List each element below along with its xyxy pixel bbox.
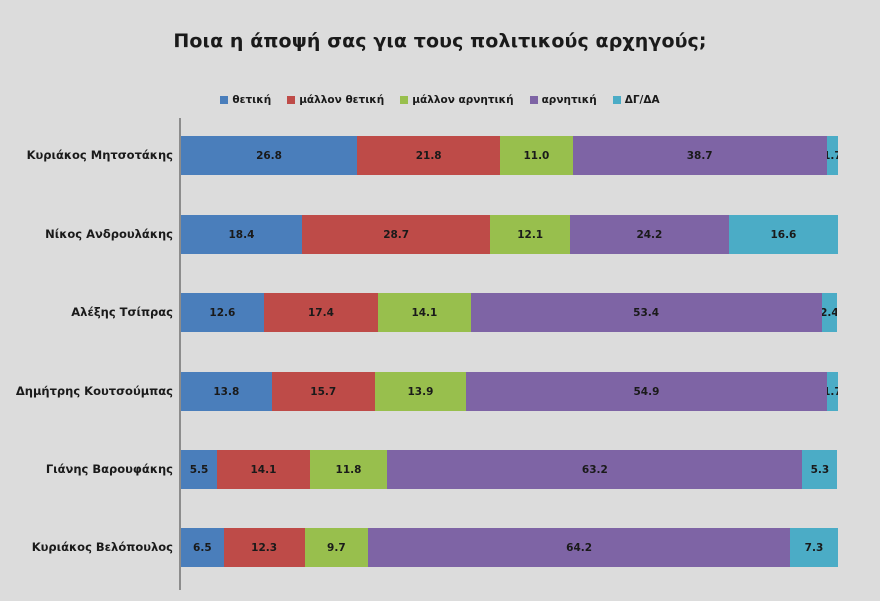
- bar-segment[interactable]: 12.3: [224, 528, 305, 567]
- bar-segment-value: 17.4: [308, 307, 334, 319]
- bar-segment-value: 13.8: [213, 386, 239, 398]
- bar-segment[interactable]: 16.6: [729, 215, 838, 254]
- bar-segment[interactable]: 24.2: [570, 215, 729, 254]
- chart-category-row: Κυριάκος Βελόπουλος6.512.39.764.27.3: [0, 528, 880, 567]
- category-label: Κυριάκος Βελόπουλος: [32, 528, 173, 567]
- chart-category-row: Νίκος Ανδρουλάκης18.428.712.124.216.6: [0, 215, 880, 254]
- bar-segment[interactable]: 1.7: [827, 136, 838, 175]
- chart-category-row: Αλέξης Τσίπρας12.617.414.153.42.4: [0, 293, 880, 332]
- bar-segment[interactable]: 15.7: [272, 372, 375, 411]
- category-label: Νίκος Ανδρουλάκης: [45, 215, 173, 254]
- bar-segment-value: 5.5: [190, 464, 209, 476]
- chart-title: Ποια η άποψή σας για τους πολιτικούς αρχ…: [0, 30, 880, 52]
- bar-segment-value: 13.9: [407, 386, 433, 398]
- bar-segment-value: 15.7: [310, 386, 336, 398]
- bar-segment-value: 9.7: [327, 542, 346, 554]
- chart-legend: θετικήμάλλον θετικήμάλλον αρνητικήαρνητι…: [0, 94, 880, 106]
- category-label: Κυριάκος Μητσοτάκης: [27, 136, 173, 175]
- bar-segment-value: 11.8: [336, 464, 362, 476]
- bar-segment-value: 14.1: [250, 464, 276, 476]
- plot-area: Κυριάκος Μητσοτάκης26.821.811.038.71.7Νί…: [0, 118, 880, 596]
- bar-segment[interactable]: 63.2: [387, 450, 802, 489]
- bar-segment[interactable]: 6.5: [181, 528, 224, 567]
- bar-segment-value: 1.7: [827, 150, 838, 162]
- legend-swatch-icon: [613, 96, 621, 104]
- bar-segment[interactable]: 7.3: [790, 528, 838, 567]
- bar-segment[interactable]: 38.7: [573, 136, 827, 175]
- bar-segment[interactable]: 12.6: [181, 293, 264, 332]
- legend-item-label: ΔΓ/ΔΑ: [625, 94, 660, 106]
- bar-segment[interactable]: 64.2: [368, 528, 790, 567]
- bar-segment-value: 16.6: [770, 229, 796, 241]
- stacked-bar: 18.428.712.124.216.6: [181, 215, 838, 254]
- bar-segment-value: 12.3: [251, 542, 277, 554]
- bar-segment-value: 38.7: [687, 150, 713, 162]
- chart-category-row: Κυριάκος Μητσοτάκης26.821.811.038.71.7: [0, 136, 880, 175]
- legend-item[interactable]: μάλλον αρνητική: [400, 94, 513, 106]
- stacked-bar: 5.514.111.863.25.3: [181, 450, 838, 489]
- bar-segment-value: 21.8: [416, 150, 442, 162]
- bar-segment-value: 12.6: [209, 307, 235, 319]
- legend-item-label: μάλλον θετική: [299, 94, 384, 106]
- category-label: Γιάνης Βαρουφάκης: [46, 450, 173, 489]
- bar-segment-value: 12.1: [517, 229, 543, 241]
- bar-segment[interactable]: 13.9: [375, 372, 466, 411]
- chart-category-row: Δημήτρης Κουτσούμπας13.815.713.954.91.7: [0, 372, 880, 411]
- stacked-bar: 26.821.811.038.71.7: [181, 136, 838, 175]
- stacked-bar: 13.815.713.954.91.7: [181, 372, 838, 411]
- bar-segment-value: 64.2: [566, 542, 592, 554]
- stacked-bar: 12.617.414.153.42.4: [181, 293, 838, 332]
- legend-swatch-icon: [287, 96, 295, 104]
- bar-segment-value: 63.2: [582, 464, 608, 476]
- bar-segment-value: 5.3: [811, 464, 830, 476]
- stacked-bar: 6.512.39.764.27.3: [181, 528, 838, 567]
- legend-item[interactable]: αρνητική: [530, 94, 597, 106]
- legend-item[interactable]: μάλλον θετική: [287, 94, 384, 106]
- legend-swatch-icon: [220, 96, 228, 104]
- legend-swatch-icon: [530, 96, 538, 104]
- bar-segment-value: 18.4: [228, 229, 254, 241]
- bar-segment-value: 26.8: [256, 150, 282, 162]
- bar-segment[interactable]: 11.0: [500, 136, 572, 175]
- bar-segment[interactable]: 5.3: [802, 450, 837, 489]
- bar-segment-value: 2.4: [822, 307, 838, 319]
- bar-segment[interactable]: 12.1: [490, 215, 569, 254]
- bar-segment[interactable]: 26.8: [181, 136, 357, 175]
- y-axis-line: [179, 118, 181, 590]
- bar-segment[interactable]: 9.7: [305, 528, 369, 567]
- legend-swatch-icon: [400, 96, 408, 104]
- bar-segment-value: 7.3: [805, 542, 824, 554]
- bar-segment[interactable]: 1.7: [827, 372, 838, 411]
- bar-segment[interactable]: 54.9: [466, 372, 827, 411]
- legend-item[interactable]: θετική: [220, 94, 271, 106]
- legend-item[interactable]: ΔΓ/ΔΑ: [613, 94, 660, 106]
- bar-segment-value: 53.4: [633, 307, 659, 319]
- bar-segment[interactable]: 11.8: [310, 450, 388, 489]
- bar-segment[interactable]: 14.1: [378, 293, 471, 332]
- legend-item-label: μάλλον αρνητική: [412, 94, 513, 106]
- stacked-bar-chart: Ποια η άποψή σας για τους πολιτικούς αρχ…: [0, 0, 880, 601]
- bar-segment[interactable]: 17.4: [264, 293, 378, 332]
- bar-segment-value: 14.1: [411, 307, 437, 319]
- bar-segment-value: 28.7: [383, 229, 409, 241]
- bar-segment[interactable]: 5.5: [181, 450, 217, 489]
- bar-segment-value: 24.2: [636, 229, 662, 241]
- bar-segment-value: 1.7: [827, 386, 838, 398]
- legend-item-label: θετική: [232, 94, 271, 106]
- bar-segment[interactable]: 28.7: [302, 215, 491, 254]
- bar-segment-value: 11.0: [523, 150, 549, 162]
- bar-segment-value: 54.9: [633, 386, 659, 398]
- bar-segment[interactable]: 21.8: [357, 136, 500, 175]
- bar-segment[interactable]: 2.4: [822, 293, 838, 332]
- bar-segment[interactable]: 14.1: [217, 450, 310, 489]
- category-label: Αλέξης Τσίπρας: [71, 293, 173, 332]
- legend-item-label: αρνητική: [542, 94, 597, 106]
- bar-segment[interactable]: 18.4: [181, 215, 302, 254]
- category-label: Δημήτρης Κουτσούμπας: [16, 372, 173, 411]
- bar-segment[interactable]: 53.4: [471, 293, 822, 332]
- bar-segment[interactable]: 13.8: [181, 372, 272, 411]
- chart-category-row: Γιάνης Βαρουφάκης5.514.111.863.25.3: [0, 450, 880, 489]
- bar-segment-value: 6.5: [193, 542, 212, 554]
